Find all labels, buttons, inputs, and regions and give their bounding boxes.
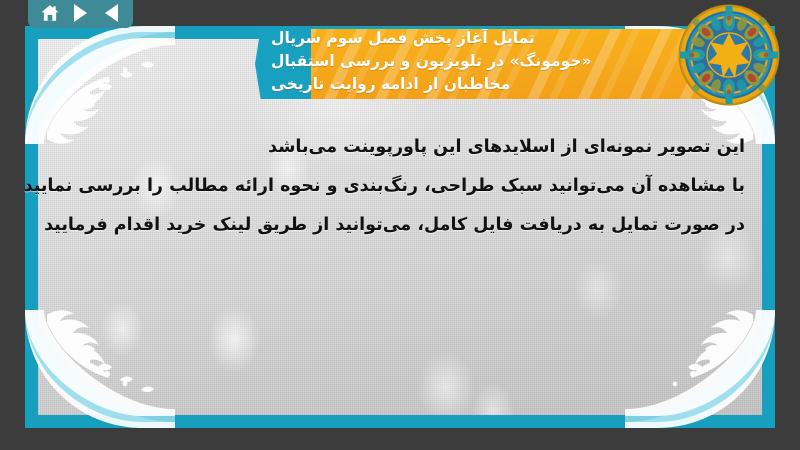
back-button[interactable] xyxy=(99,2,125,24)
title-line-3: مخاطبان از ادامه روایت تاریخی xyxy=(271,73,510,96)
body-line-3: در صورت تمایل به دریافت فایل کامل، می‌تو… xyxy=(55,208,745,242)
title-banner: تمایل آغاز پخش فصل سوم سریال «جومونگ» در… xyxy=(255,29,725,99)
title-line-1: تمایل آغاز پخش فصل سوم سریال xyxy=(271,29,535,50)
circular-mandala-medallion xyxy=(678,4,780,106)
body-line-2: با مشاهده آن می‌توانید سبک طراحی، رنگ‌بن… xyxy=(55,169,745,203)
home-icon xyxy=(40,4,60,22)
triangle-right-icon xyxy=(74,4,87,22)
navigation-bar xyxy=(28,0,133,28)
forward-button[interactable] xyxy=(68,2,94,24)
home-button[interactable] xyxy=(37,2,63,24)
presentation-slide: تمایل آغاز پخش فصل سوم سریال «جومونگ» در… xyxy=(0,0,800,450)
triangle-left-icon xyxy=(105,4,118,22)
slide-body-text: این تصویر نمونه‌ای از اسلایدهای این پاور… xyxy=(55,130,745,247)
slide-title: تمایل آغاز پخش فصل سوم سریال «جومونگ» در… xyxy=(255,29,725,99)
body-line-1: این تصویر نمونه‌ای از اسلایدهای این پاور… xyxy=(55,130,745,164)
title-line-2: «جومونگ» در تلویزیون و بررسی استقبال xyxy=(271,50,591,73)
